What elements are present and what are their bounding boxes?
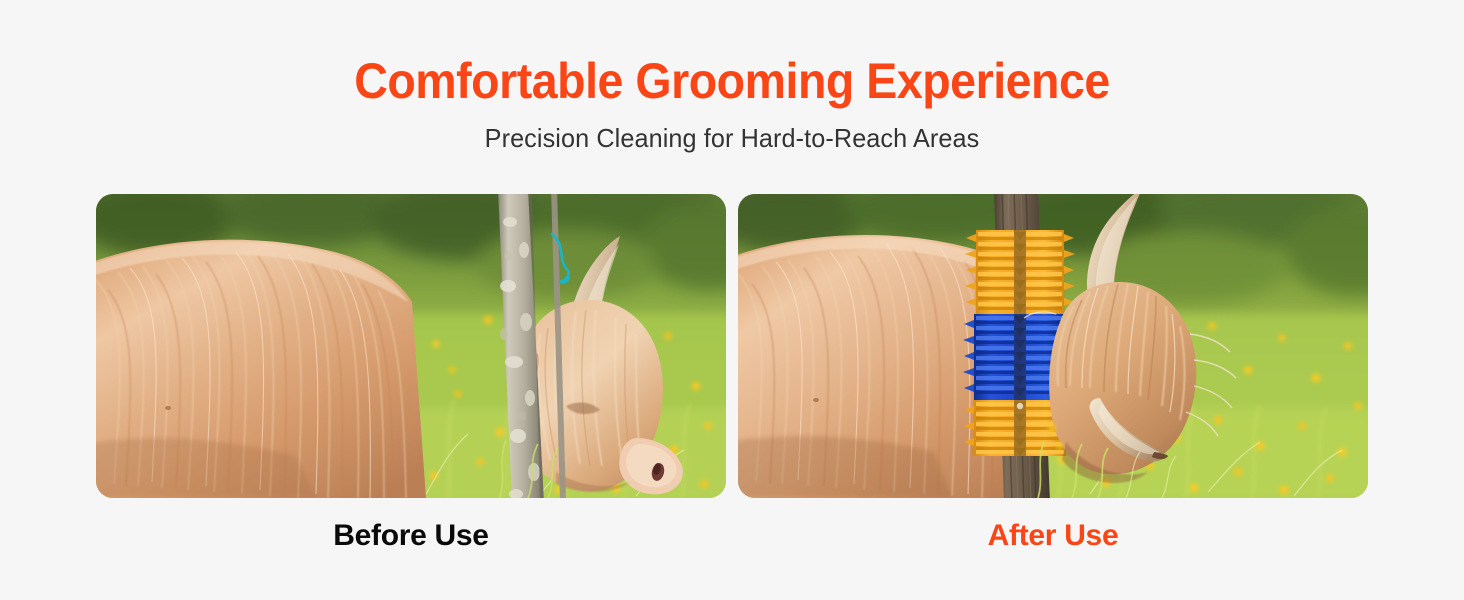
panel-captions: Before Use After Use xyxy=(96,516,1368,560)
caption-after-use: After Use xyxy=(738,516,1368,560)
comparison-panels xyxy=(96,194,1368,498)
brush-section-yellow-top xyxy=(976,230,1064,314)
before-photo xyxy=(96,194,726,498)
header: Comfortable Grooming Experience Precisio… xyxy=(0,0,1464,154)
before-image-panel xyxy=(96,194,726,498)
after-photo xyxy=(738,194,1368,498)
cow-body xyxy=(96,240,426,498)
caption-before-use: Before Use xyxy=(96,516,726,560)
page-subtitle: Precision Cleaning for Hard-to-Reach Are… xyxy=(22,112,1442,154)
promo-banner: Comfortable Grooming Experience Precisio… xyxy=(0,0,1464,600)
page-title: Comfortable Grooming Experience xyxy=(51,0,1413,112)
after-image-panel xyxy=(738,194,1368,498)
